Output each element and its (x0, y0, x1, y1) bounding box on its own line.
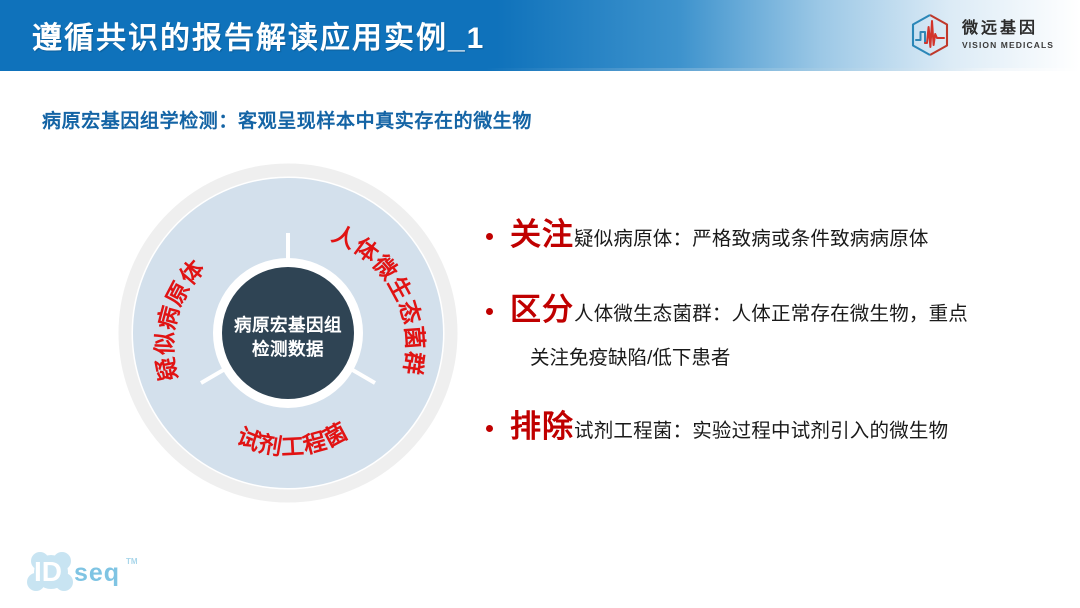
page-title: 遵循共识的报告解读应用实例_1 (32, 13, 485, 57)
bullet-text: 疑似病原体：严格致病或条件致病病原体 (574, 228, 929, 250)
brand-logo: 微远基因 VISION MEDICALS (907, 11, 1054, 59)
bullet-dot-icon (486, 308, 493, 315)
brand-name-cn: 微远基因 (962, 21, 1054, 37)
hexagon-ecg-icon (907, 12, 953, 58)
bullet-text: 人体微生态菌群：人体正常存在微生物，重点 (574, 303, 968, 325)
bullet-dot-icon (486, 425, 493, 432)
bullet-keyword: 关注 (510, 217, 574, 252)
three-segment-donut: 病原宏基因组 检测数据 疑似病原体 人体微生态菌群 试剂工程菌 (118, 163, 458, 503)
bullet-dot-icon (486, 233, 493, 240)
bullet-item-exclude: 排除试剂工程菌：实验过程中试剂引入的微生物 (486, 406, 1066, 454)
brand-name-en: VISION MEDICALS (962, 41, 1054, 50)
idseq-seq-text: seq (74, 559, 120, 587)
trademark-text: TM (126, 557, 138, 566)
header-underline (0, 68, 1080, 71)
bullet-item-focus: 关注疑似病原体：严格致病或条件致病病原体 (486, 214, 1066, 262)
bullet-list: 关注疑似病原体：严格致病或条件致病病原体 区分人体微生态菌群：人体正常存在微生物… (486, 214, 1066, 481)
bullet-keyword: 排除 (510, 409, 574, 444)
brand-wordmark: 微远基因 VISION MEDICALS (962, 21, 1054, 50)
hub-label-line2: 检测数据 (252, 339, 324, 359)
section-subtitle: 病原宏基因组学检测：客观呈现样本中真实存在的微生物 (42, 106, 532, 133)
idseq-id-text: ID (34, 556, 62, 587)
bullet-keyword: 区分 (510, 292, 574, 327)
bullet-text-continuation: 关注免疫缺陷/低下患者 (510, 337, 1066, 379)
hub-label-line1: 病原宏基因组 (234, 315, 342, 335)
bullet-item-distinguish: 区分人体微生态菌群：人体正常存在微生物，重点 关注免疫缺陷/低下患者 (486, 289, 1066, 379)
bullet-text: 试剂工程菌：实验过程中试剂引入的微生物 (574, 420, 948, 442)
idseq-footer-logo: ID seq TM (22, 548, 152, 598)
